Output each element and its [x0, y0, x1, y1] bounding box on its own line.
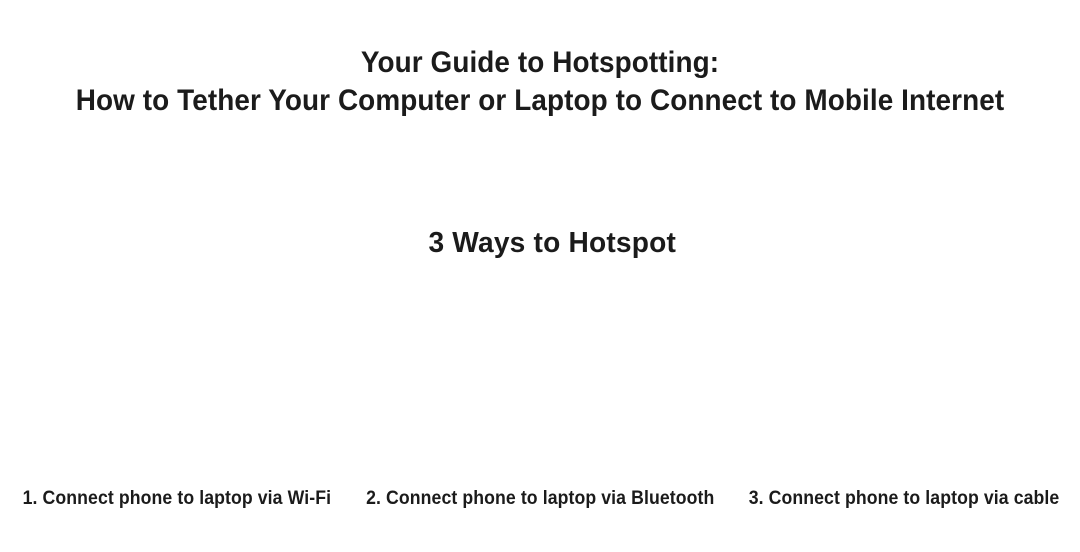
cable-tethering-illustration	[720, 282, 1080, 472]
page-title-line-2: How to Tether Your Computer or Laptop to…	[38, 82, 1042, 120]
method-1-caption-label: 1. Connect phone to laptop via Wi-Fi	[22, 486, 330, 512]
infographic-page: Your Guide to Hotspotting: How to Tether…	[0, 0, 1080, 552]
caption-row: 1. Connect phone to laptop via Wi-Fi 2. …	[0, 486, 1080, 512]
section-heading-label: 3 Ways to Hotspot	[404, 224, 677, 262]
wifi-tethering-illustration	[0, 282, 360, 472]
section-heading: 3 Ways to Hotspot	[0, 224, 1080, 262]
method-1-caption: 1. Connect phone to laptop via Wi-Fi	[0, 486, 353, 512]
method-3-caption: 3. Connect phone to laptop via cable	[727, 486, 1080, 512]
page-title-line-1: Your Guide to Hotspotting:	[38, 44, 1042, 82]
method-3-caption-label: 3. Connect phone to laptop via cable	[748, 486, 1059, 512]
page-title: Your Guide to Hotspotting: How to Tether…	[0, 44, 1080, 120]
method-2-caption: 2. Connect phone to laptop via Bluetooth	[353, 486, 728, 512]
method-2-caption-label: 2. Connect phone to laptop via Bluetooth	[366, 486, 714, 512]
illustration-row	[0, 282, 1080, 472]
bluetooth-tethering-illustration	[360, 282, 720, 472]
